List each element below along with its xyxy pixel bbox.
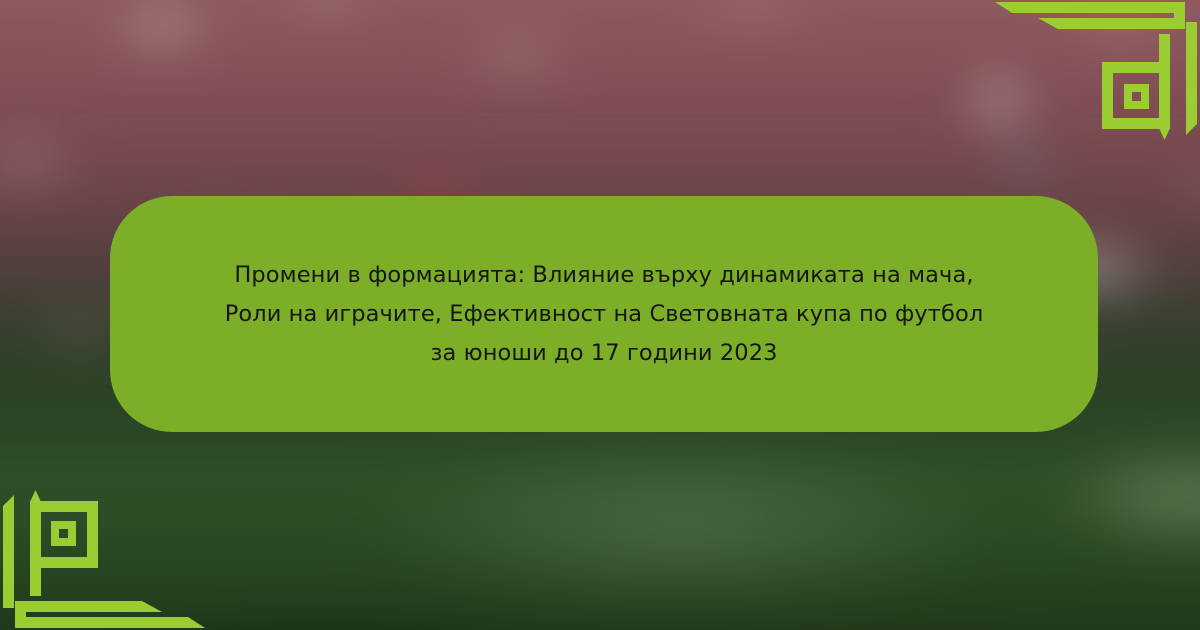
share-card-canvas: Промени в формацията: Влияние върху дина… (0, 0, 1200, 630)
page-title: Промени в формацията: Влияние върху дина… (214, 256, 994, 373)
headline-card: Промени в формацията: Влияние върху дина… (110, 196, 1098, 432)
